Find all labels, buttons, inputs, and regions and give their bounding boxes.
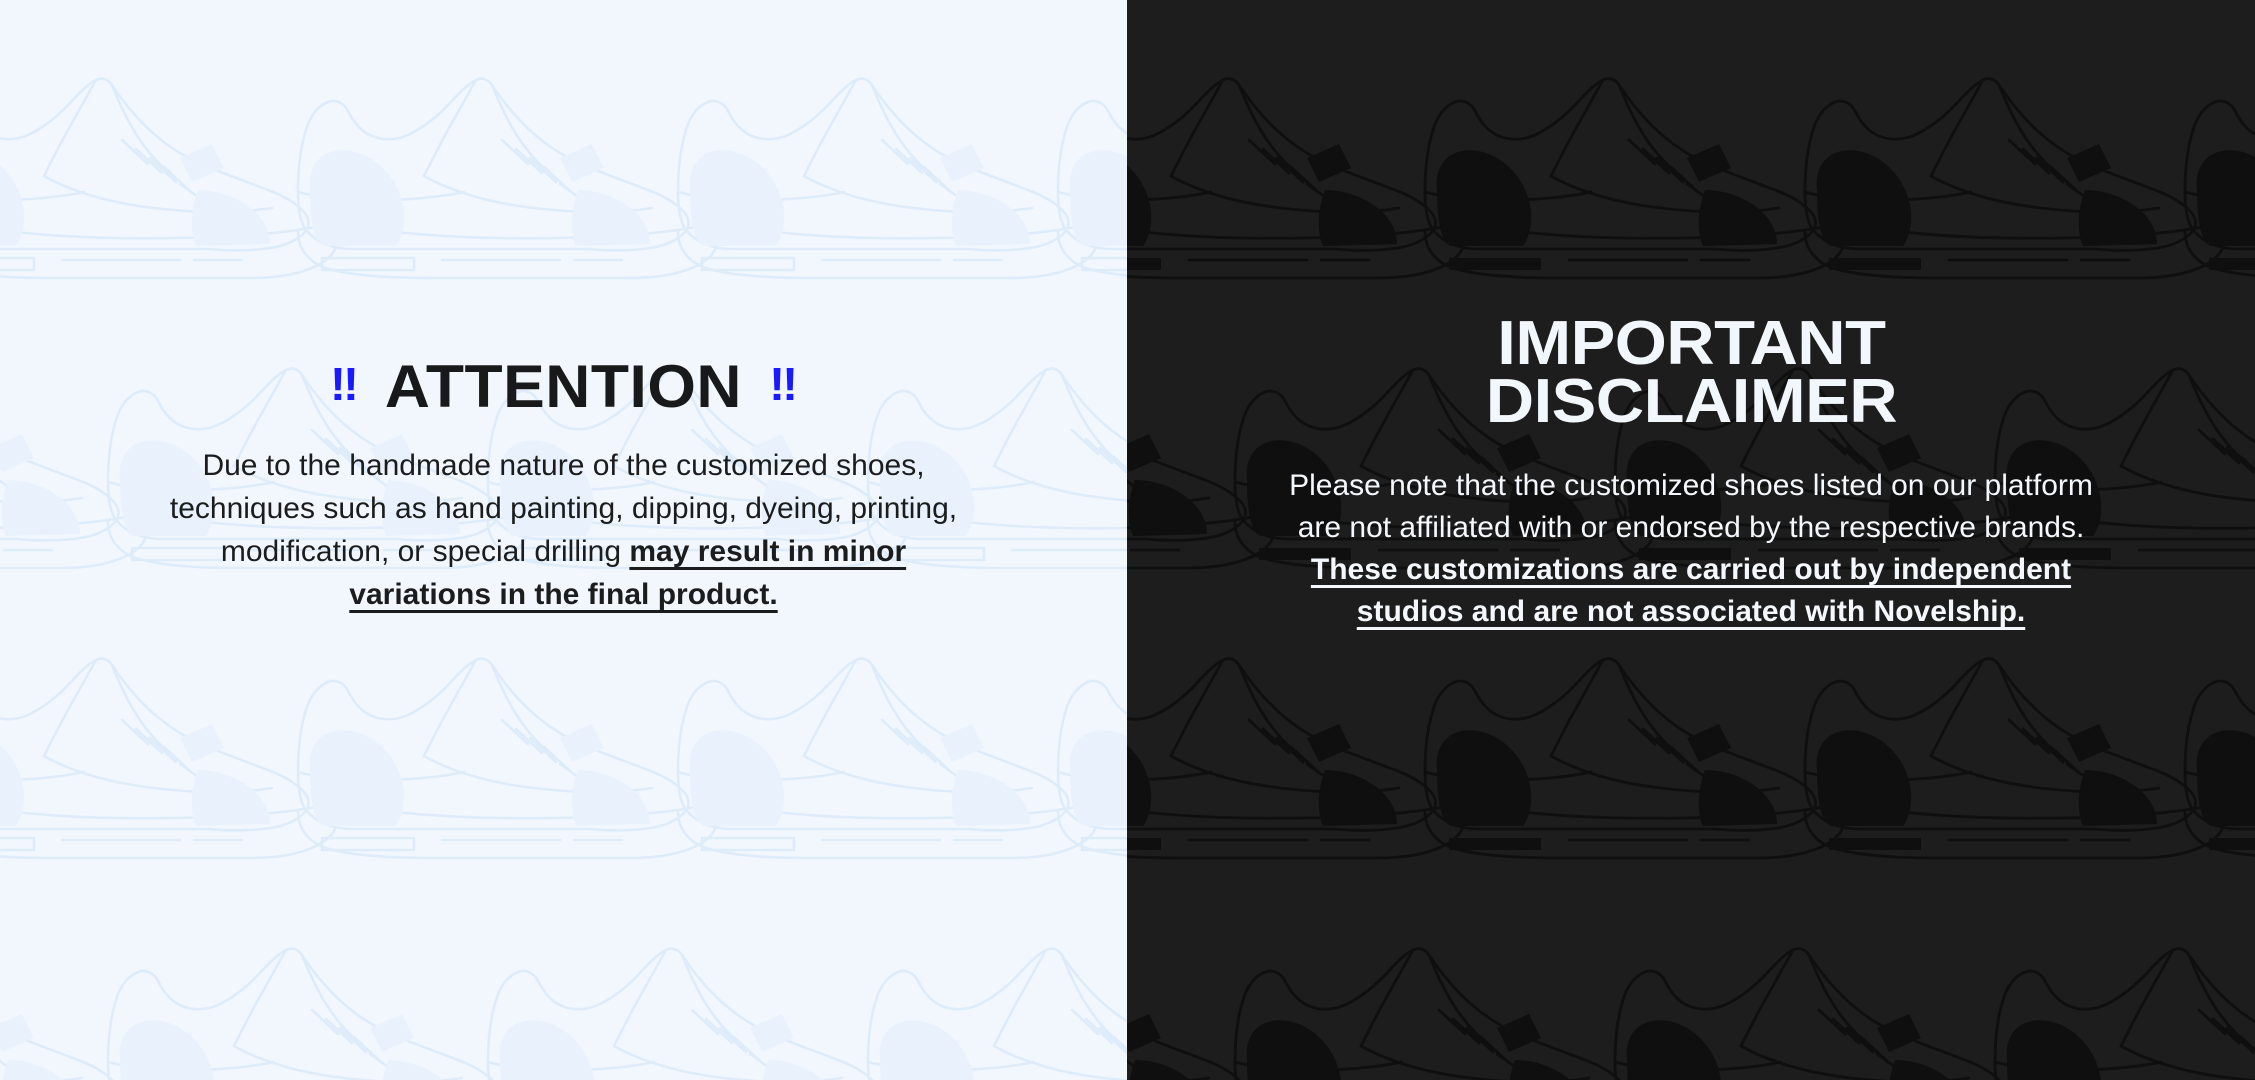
- disclaimer-panel: IMPORTANT DISCLAIMER Please note that th…: [1127, 0, 2255, 1080]
- double-exclamation-icon-left: ‼: [330, 361, 358, 407]
- attention-body: Due to the handmade nature of the custom…: [169, 444, 959, 616]
- double-exclamation-icon-right: ‼: [769, 361, 797, 407]
- attention-content: ‼ ATTENTION ‼ Due to the handmade nature…: [0, 0, 1127, 616]
- disclaimer-body: Please note that the customized shoes li…: [1275, 465, 2107, 633]
- attention-heading-text: ATTENTION: [385, 355, 742, 419]
- disclaimer-body-normal: Please note that the customized shoes li…: [1289, 469, 2093, 544]
- disclaimer-heading-line-1: IMPORTANT: [1485, 315, 1896, 373]
- disclaimer-heading: IMPORTANT DISCLAIMER: [1485, 315, 1896, 437]
- disclaimer-heading-line-2: DISCLAIMER: [1485, 373, 1896, 431]
- disclaimer-body-emphasis: These customizations are carried out by …: [1311, 553, 2071, 628]
- disclaimer-content: IMPORTANT DISCLAIMER Please note that th…: [1127, 0, 2255, 633]
- attention-heading: ‼ ATTENTION ‼: [330, 355, 797, 419]
- disclaimer-banner: ‼ ATTENTION ‼ Due to the handmade nature…: [0, 0, 2255, 1080]
- attention-panel: ‼ ATTENTION ‼ Due to the handmade nature…: [0, 0, 1127, 1080]
